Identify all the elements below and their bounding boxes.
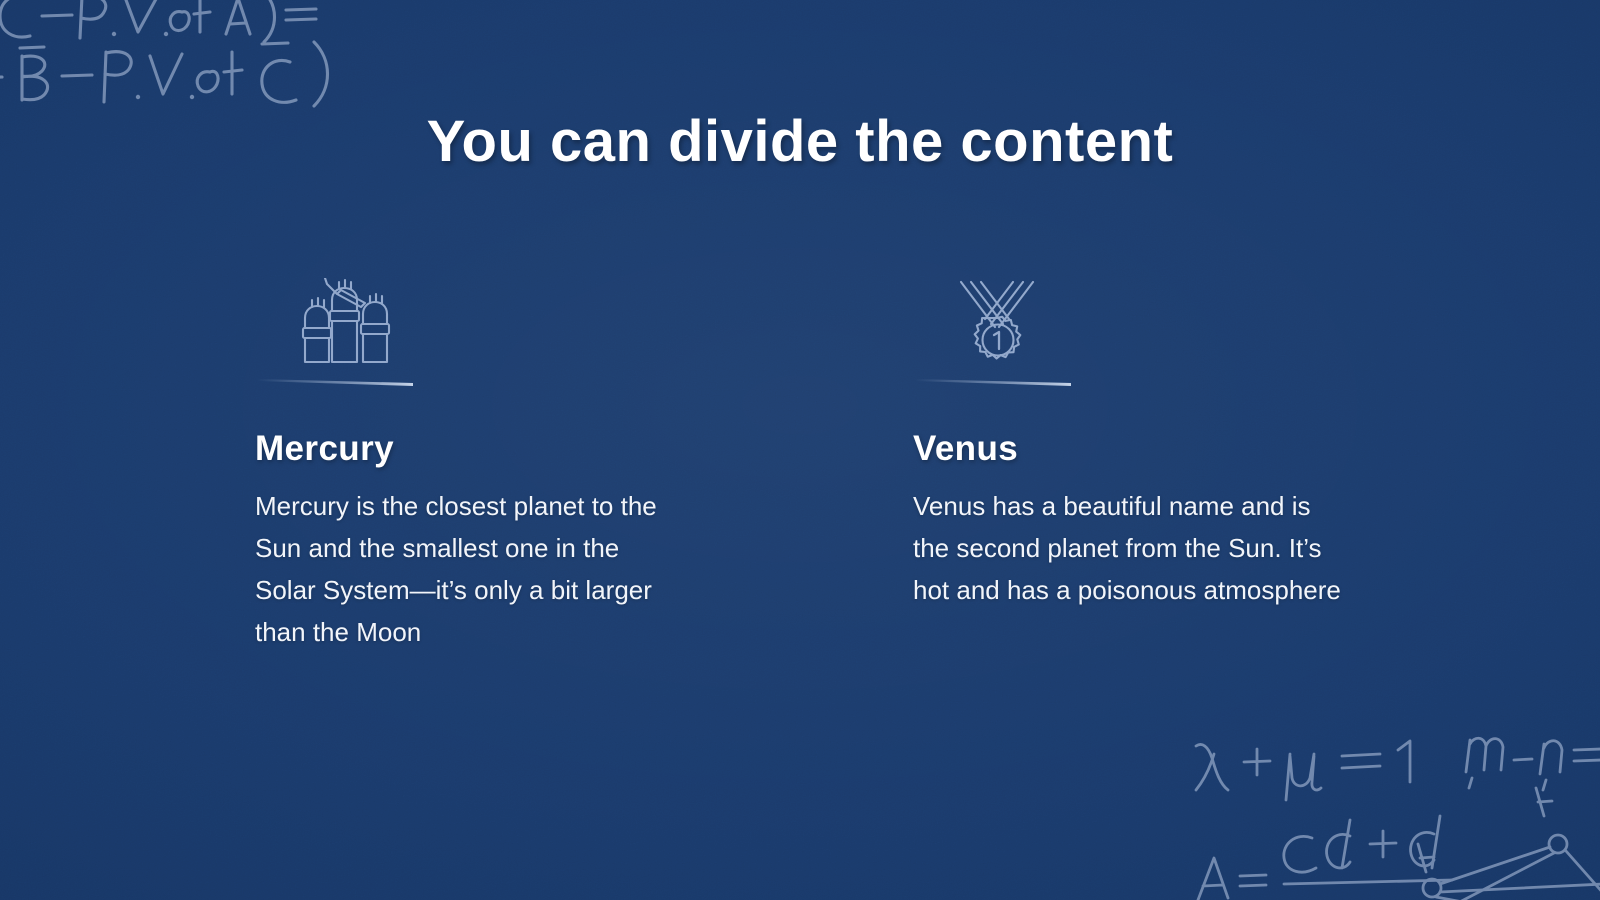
card-heading-venus: Venus [913,430,1373,469]
content-columns: Mercury Mercury is the closest planet to… [255,278,1375,653]
page-title: You can divide the content [0,108,1600,175]
slide-canvas: You can divide the content [0,0,1600,900]
handwriting-bottom-right-icon [1184,716,1600,900]
card-body-mercury: Mercury is the closest planet to the Sun… [255,485,685,653]
divider-mercury [255,376,455,388]
first-place-medal-icon [943,278,1373,364]
content-column-venus: Venus Venus has a beautiful name and is … [913,278,1373,653]
card-heading-mercury: Mercury [255,430,715,469]
raised-fists-with-pencil-icon [285,278,715,364]
card-body-venus: Venus has a beautiful name and is the se… [913,485,1343,611]
handwriting-top-left-icon [0,0,346,110]
content-column-mercury: Mercury Mercury is the closest planet to… [255,278,715,653]
divider-venus [913,376,1113,388]
